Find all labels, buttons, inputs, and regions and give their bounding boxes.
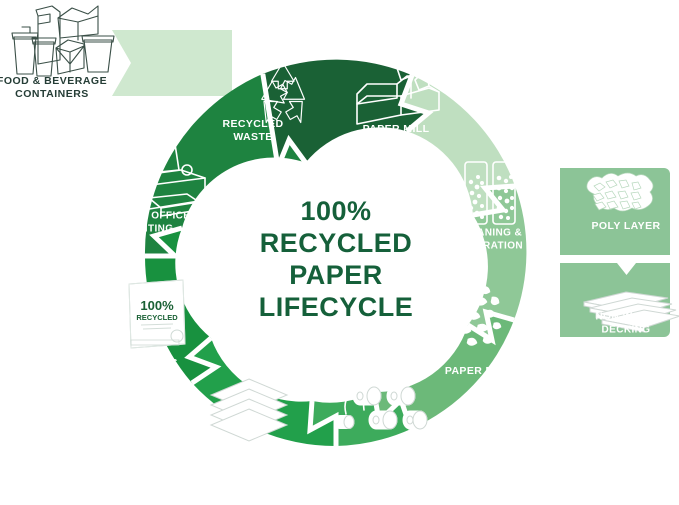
segment-label-reams: REAMS (138, 357, 178, 369)
cups-and-takeout-boxes-icon (12, 6, 114, 76)
svg-text:RECYCLED: RECYCLED (136, 313, 178, 322)
poly-chips-icon (587, 173, 653, 211)
output-label-poly-layer: POLY LAYER (592, 220, 661, 232)
input-label-food-beverage-1: FOOD & BEVERAGE (0, 75, 107, 87)
output-label-decking-1: NON-WOOD (596, 312, 657, 323)
segment-label-cleaning-2: SEPARATION (455, 241, 523, 252)
food-beverage-banner (112, 30, 232, 96)
infographic-canvas: 100% RECYCLED PAPER LIFECYCLE RECYCLED W… (0, 0, 679, 505)
segment-label-sheeting-1: SHEETING & (215, 451, 280, 462)
segment-label-sheeting-2: WRAPPING (219, 464, 277, 475)
segment-label-home-office-1: HOME & OFFICE (106, 211, 191, 222)
segment-label-paper-mill: PAPER MILL (363, 123, 430, 135)
center-title-line-4: LIFECYCLE (259, 292, 414, 322)
segment-label-paper-pulp: PAPER PULP (445, 365, 515, 377)
ream-pack-icon: 100% RECYCLED (129, 280, 185, 348)
center-title-line-2: RECYCLED (260, 228, 413, 258)
segment-label-recycled-waste-2: WASTE (233, 131, 272, 143)
segment-label-home-office-2: PRINTING (123, 224, 174, 235)
segment-label-cleaning-1: CLEANING & (456, 228, 522, 239)
segment-label-recycled-waste-1: RECYCLED (223, 118, 284, 130)
center-title-line-1: 100% (300, 196, 371, 226)
center-title-line-3: PAPER (289, 260, 383, 290)
segment-label-papermaking: PAPERMAKING (347, 452, 429, 464)
svg-text:100%: 100% (140, 298, 174, 313)
input-label-food-beverage-2: CONTAINERS (15, 88, 89, 100)
output-label-decking-2: DECKING (602, 325, 651, 336)
